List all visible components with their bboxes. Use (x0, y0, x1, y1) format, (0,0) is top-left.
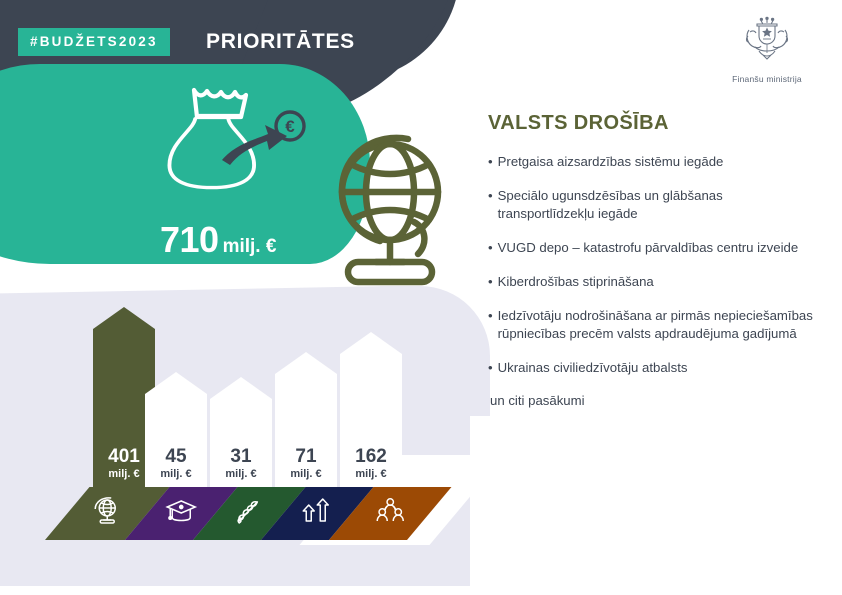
latvian-coat-of-arms-icon (737, 14, 797, 71)
ministry-logo: Finanšu ministrija (714, 14, 820, 84)
chart-bar-2: 31 milj. € (210, 377, 272, 487)
globe-on-stand-icon (318, 130, 448, 300)
bullet-marker: • (488, 239, 493, 258)
list-item: • Pretgaisa aizsardzības sistēmu iegāde (488, 153, 818, 172)
chart-bar-unit-0: milj. € (108, 467, 139, 481)
chart-bar-value-3: 71 (295, 447, 316, 467)
chart-base-band (0, 487, 430, 540)
chart-bar-unit-4: milj. € (355, 467, 386, 481)
chart-bar-value-4: 162 (355, 447, 387, 467)
chart-bar-3: 71 milj. € (275, 352, 337, 487)
highlight-amount: 710milj. € (160, 219, 276, 261)
list-item-label: VUGD depo – katastrofu pārvaldības centr… (498, 239, 799, 258)
list-item-label: Speciālo ugunsdzēsības un glābšanas tran… (498, 187, 818, 224)
priority-panel: VALSTS DROŠĪBA • Pretgaisa aizsardzības … (488, 112, 818, 408)
list-item-label: Iedzīvotāju nodrošināšana ar pirmās nepi… (498, 307, 818, 344)
hashtag-badge: #BUDŽETS2023 (18, 28, 170, 56)
bullet-marker: • (488, 273, 493, 292)
chart-bar-value-0: 401 (108, 447, 140, 467)
page-title: PRIORITĀTES (206, 30, 355, 54)
bullet-marker: • (488, 359, 493, 378)
highlight-amount-value: 710 (160, 219, 219, 260)
chart-bar-value-2: 31 (230, 447, 251, 467)
highlight-amount-unit: milj. € (223, 236, 277, 257)
svg-text:€: € (285, 117, 295, 136)
wheat-plant-icon (234, 496, 264, 531)
panel-title: VALSTS DROŠĪBA (488, 112, 818, 135)
graduation-cap-icon (165, 497, 197, 530)
chart-bar-unit-1: milj. € (160, 467, 191, 481)
list-item: • VUGD depo – katastrofu pārvaldības cen… (488, 239, 818, 258)
people-group-icon (374, 497, 406, 530)
list-item: • Kiberdrošības stiprināšana (488, 273, 818, 292)
infographic-canvas: #BUDŽETS2023 PRIORITĀTES (0, 0, 842, 595)
chart-bar-value-1: 45 (165, 447, 186, 467)
list-item-label: Pretgaisa aizsardzības sistēmu iegāde (498, 153, 724, 172)
chart-bar-unit-3: milj. € (290, 467, 321, 481)
chart-bar-4: 162 milj. € (340, 332, 402, 487)
up-arrows-icon (301, 497, 333, 530)
globe-icon (92, 496, 122, 531)
money-bag-icon: € (150, 82, 315, 217)
ministry-logo-caption: Finanšu ministrija (732, 74, 802, 84)
panel-footnote: un citi pasākumi (488, 393, 818, 408)
list-item: • Iedzīvotāju nodrošināšana ar pirmās ne… (488, 307, 818, 344)
chart-bar-1: 45 milj. € (145, 372, 207, 487)
list-item-label: Ukrainas civiliedzīvotāju atbalsts (498, 359, 688, 378)
list-item: • Speciālo ugunsdzēsības un glābšanas tr… (488, 187, 818, 224)
budget-bar-chart: 401 milj. € 45 milj. € 31 milj. € 71 mil… (0, 300, 430, 540)
list-item: • Ukrainas civiliedzīvotāju atbalsts (488, 359, 818, 378)
chart-bar-unit-2: milj. € (225, 467, 256, 481)
bullet-marker: • (488, 187, 493, 224)
list-item-label: Kiberdrošības stiprināšana (498, 273, 654, 292)
bullet-marker: • (488, 307, 493, 344)
bullet-marker: • (488, 153, 493, 172)
